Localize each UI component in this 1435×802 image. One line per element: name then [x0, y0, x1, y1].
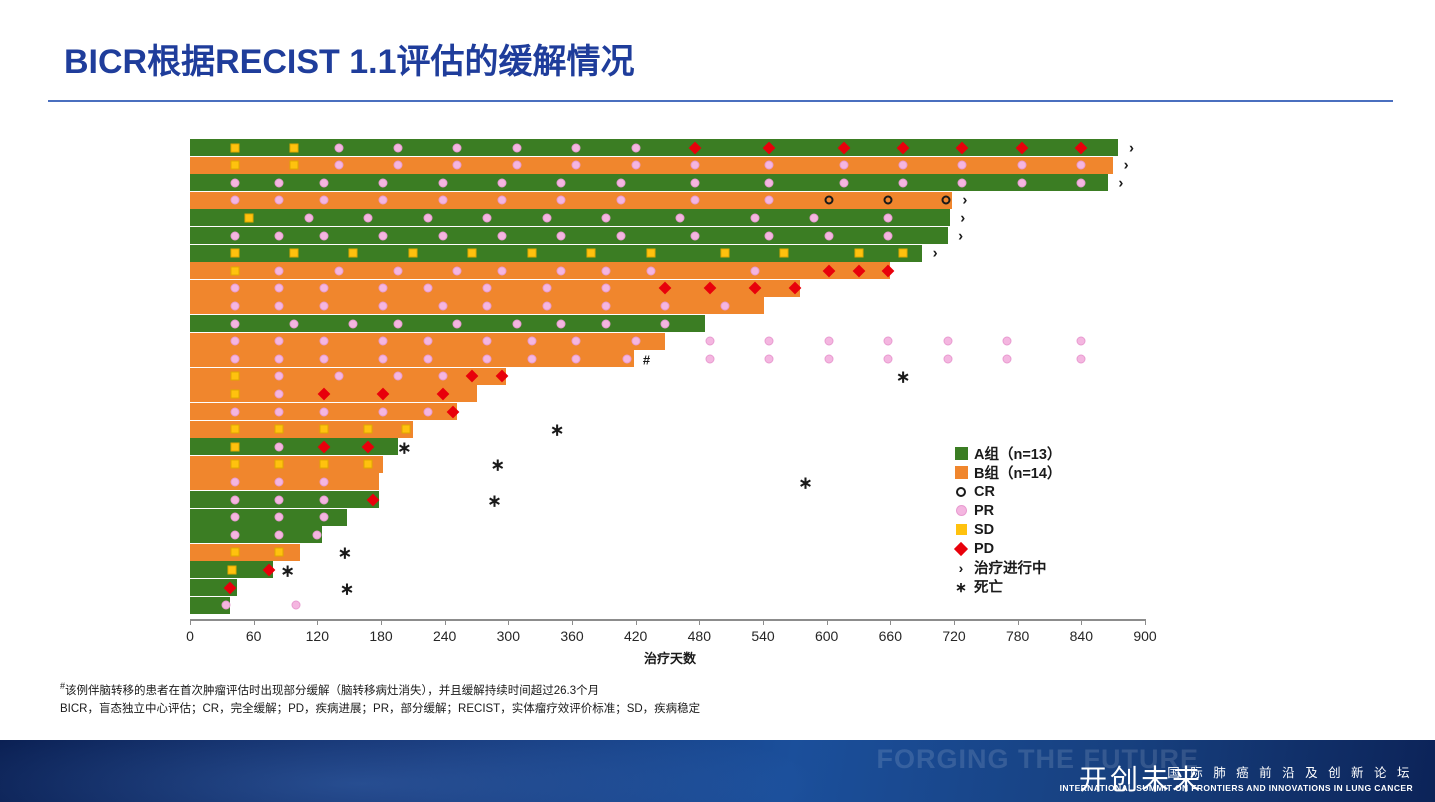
- x-axis-tick: [317, 619, 318, 625]
- pr-marker-icon: [393, 161, 402, 170]
- swimmer-bar-group-a[interactable]: [190, 227, 948, 244]
- pr-marker-icon: [601, 319, 610, 328]
- swimmer-bar-row[interactable]: [0, 333, 1435, 350]
- sd-marker-icon: [527, 249, 536, 258]
- death-marker-icon: ∗: [491, 457, 505, 474]
- legend-item[interactable]: A组（n=13）: [948, 444, 1061, 463]
- pr-marker-icon: [527, 354, 536, 363]
- legend-item-label: CR: [974, 484, 995, 500]
- swimmer-bar-row[interactable]: [0, 192, 1435, 209]
- sd-marker-icon: [289, 143, 298, 152]
- cr-marker-icon: [941, 196, 950, 205]
- pr-marker-icon: [230, 319, 239, 328]
- x-axis-tick: [445, 619, 446, 625]
- pr-marker-icon: [1077, 354, 1086, 363]
- swimmer-bar-group-a[interactable]: [190, 139, 1118, 156]
- pr-marker-icon: [230, 301, 239, 310]
- sd-marker-icon: [364, 425, 373, 434]
- pr-marker-icon: [765, 196, 774, 205]
- legend-item-label: SD: [974, 522, 994, 538]
- x-axis-tick: [1018, 619, 1019, 625]
- legend-item-label: A组（n=13）: [974, 443, 1061, 464]
- pr-marker-icon: [542, 213, 551, 222]
- pr-marker-icon: [483, 354, 492, 363]
- x-axis-tick-label: 720: [942, 628, 965, 644]
- sd-marker-icon: [899, 249, 908, 258]
- swimmer-bar-row[interactable]: [0, 227, 1435, 244]
- x-axis-tick: [699, 619, 700, 625]
- legend-item-label: 死亡: [974, 576, 1003, 597]
- footnote-abbrev: BICR，盲态独立中心评估；CR，完全缓解；PD，疾病进展；PR，部分缓解；RE…: [60, 701, 700, 719]
- orange-swatch-icon: [948, 463, 974, 482]
- ongoing-treatment-icon: ›: [1124, 158, 1129, 173]
- pr-marker-icon: [393, 266, 402, 275]
- pr-marker-icon: [275, 372, 284, 381]
- pr-marker-icon: [275, 407, 284, 416]
- death-marker-icon: ∗: [397, 439, 411, 456]
- x-axis-tick-label: 600: [815, 628, 838, 644]
- pr-marker-icon: [349, 319, 358, 328]
- pr-marker-icon: [765, 354, 774, 363]
- pr-marker-icon: [958, 161, 967, 170]
- pr-marker-icon: [379, 284, 388, 293]
- sd-marker-icon: [230, 425, 239, 434]
- swimmer-bar-group-b[interactable]: [190, 473, 379, 490]
- pr-marker-icon: [676, 213, 685, 222]
- pr-marker-icon: [453, 143, 462, 152]
- sd-marker-icon: [275, 548, 284, 557]
- legend-item[interactable]: PR: [948, 501, 1061, 520]
- pr-marker-icon: [646, 266, 655, 275]
- cr-marker-icon: [884, 196, 893, 205]
- x-axis-tick: [763, 619, 764, 625]
- pr-marker-icon: [379, 407, 388, 416]
- footnote-hash-text: 该例伴脑转移的患者在首次肿瘤评估时出现部分缓解（脑转移病灶消失），并且缓解持续时…: [65, 685, 599, 697]
- pr-marker-icon: [512, 161, 521, 170]
- sd-marker-icon: [780, 249, 789, 258]
- pr-marker-icon: [512, 319, 521, 328]
- pr-marker-icon: [572, 337, 581, 346]
- cr-marker-icon: [824, 196, 833, 205]
- death-star-icon: ∗: [948, 577, 974, 596]
- pr-marker-icon: [1017, 178, 1026, 187]
- sd-marker-icon: [230, 389, 239, 398]
- pr-marker-icon: [958, 178, 967, 187]
- pr-marker-icon: [319, 495, 328, 504]
- slide: BICR根据RECIST 1.1评估的缓解情况 ›››››››#∗∗∗∗∗∗∗∗…: [0, 0, 1435, 802]
- sd-marker-icon: [646, 249, 655, 258]
- bottom-banner: FORGING THE FUTURE 开创未来 国 际 肺 癌 前 沿 及 创 …: [0, 740, 1435, 802]
- x-axis-label: 治疗天数: [0, 648, 1340, 667]
- death-marker-icon: ∗: [798, 474, 812, 491]
- pr-marker-icon: [765, 178, 774, 187]
- legend-item[interactable]: CR: [948, 482, 1061, 501]
- green-swatch-icon: [948, 444, 974, 463]
- pr-marker-icon: [319, 284, 328, 293]
- sd-marker-icon: [230, 266, 239, 275]
- pr-marker-icon: [899, 178, 908, 187]
- pr-marker-icon: [884, 337, 893, 346]
- pr-marker-icon: [423, 407, 432, 416]
- x-axis-tick-label: 480: [688, 628, 711, 644]
- swimmer-bar-group-a[interactable]: [190, 526, 322, 543]
- swimmer-bar-group-b[interactable]: [190, 421, 413, 438]
- pr-marker-icon: [899, 161, 908, 170]
- pr-marker-icon: [230, 337, 239, 346]
- banner-subtitle-cn: 国 际 肺 癌 前 沿 及 创 新 论 坛: [1167, 762, 1413, 781]
- pr-marker-icon: [631, 143, 640, 152]
- pr-marker-icon: [512, 143, 521, 152]
- pr-marker-icon: [824, 354, 833, 363]
- swimmer-bar-row[interactable]: [0, 579, 1435, 596]
- pr-marker-icon: [1077, 161, 1086, 170]
- pr-marker-icon: [943, 354, 952, 363]
- pr-marker-icon: [616, 178, 625, 187]
- legend-item[interactable]: SD: [948, 520, 1061, 539]
- swimmer-bar-row[interactable]: [0, 368, 1435, 385]
- pr-marker-icon: [483, 301, 492, 310]
- pr-marker-icon: [379, 231, 388, 240]
- pr-marker-icon: [275, 196, 284, 205]
- death-marker-icon: ∗: [896, 369, 910, 386]
- pr-marker-icon: [1077, 178, 1086, 187]
- pr-marker-icon: [720, 301, 729, 310]
- pr-marker-icon: [1003, 337, 1012, 346]
- swimmer-bar-row[interactable]: [0, 491, 1435, 508]
- pr-marker-icon: [705, 354, 714, 363]
- sd-marker-icon: [364, 460, 373, 469]
- swimmer-bar-group-a[interactable]: [190, 315, 705, 332]
- pr-marker-icon: [542, 301, 551, 310]
- swimmer-bar-group-b[interactable]: [190, 192, 952, 209]
- footnote-hash-marker: #: [643, 353, 650, 366]
- swimmer-bar-row[interactable]: [0, 597, 1435, 614]
- pr-marker-icon: [379, 337, 388, 346]
- pr-marker-icon: [230, 178, 239, 187]
- death-marker-icon: ∗: [338, 545, 352, 562]
- pr-marker-icon: [230, 407, 239, 416]
- swimmer-bar-row[interactable]: [0, 385, 1435, 402]
- pr-marker-icon: [313, 530, 322, 539]
- legend-item[interactable]: ›治疗进行中: [948, 558, 1061, 577]
- pr-marker-icon: [691, 231, 700, 240]
- pr-marker-icon: [824, 231, 833, 240]
- ongoing-treatment-icon: ›: [960, 210, 965, 225]
- x-axis-tick-label: 120: [306, 628, 329, 644]
- pr-marker-icon: [275, 477, 284, 486]
- pr-marker-icon: [230, 196, 239, 205]
- pr-marker-icon: [230, 477, 239, 486]
- sd-marker-icon: [319, 460, 328, 469]
- sd-marker-icon: [587, 249, 596, 258]
- pr-marker-icon: [319, 301, 328, 310]
- sd-square-shape: [956, 524, 967, 535]
- x-axis-tick: [381, 619, 382, 625]
- pr-marker-icon: [275, 231, 284, 240]
- swimmer-bar-row[interactable]: [0, 561, 1435, 578]
- ongoing-treatment-icon: ›: [958, 228, 963, 243]
- sd-marker-icon: [275, 425, 284, 434]
- pr-marker-icon: [319, 337, 328, 346]
- x-axis-tick: [254, 619, 255, 625]
- pr-marker-icon: [705, 337, 714, 346]
- swimmer-bar-row[interactable]: [0, 262, 1435, 279]
- ongoing-treatment-icon: ›: [1129, 140, 1134, 155]
- pr-marker-icon: [750, 266, 759, 275]
- pr-marker-icon: [884, 354, 893, 363]
- swimmer-bar-row[interactable]: [0, 509, 1435, 526]
- x-axis-tick: [1081, 619, 1082, 625]
- x-axis-tick: [890, 619, 891, 625]
- swimmer-bar-row[interactable]: [0, 350, 1435, 367]
- pr-marker-icon: [943, 337, 952, 346]
- pr-marker-icon: [601, 213, 610, 222]
- pr-marker-icon: [275, 284, 284, 293]
- pr-marker-icon: [230, 354, 239, 363]
- legend-item-label: 治疗进行中: [974, 557, 1047, 578]
- pr-marker-icon: [334, 161, 343, 170]
- swimmer-bar-row[interactable]: [0, 438, 1435, 455]
- swimmer-bar-row[interactable]: [0, 544, 1435, 561]
- pr-marker-icon: [275, 442, 284, 451]
- legend-item[interactable]: PD: [948, 539, 1061, 558]
- pr-marker-icon: [230, 530, 239, 539]
- x-axis-tick-label: 540: [751, 628, 774, 644]
- death-marker-icon: ∗: [280, 562, 294, 579]
- pr-marker-icon: [379, 178, 388, 187]
- pr-marker-icon: [691, 178, 700, 187]
- pr-marker-icon: [304, 213, 313, 222]
- pr-marker-icon: [601, 284, 610, 293]
- sd-marker-icon: [720, 249, 729, 258]
- pd-diamond-icon: [948, 539, 974, 558]
- pr-marker-icon: [497, 196, 506, 205]
- x-axis-tick-label: 300: [497, 628, 520, 644]
- pr-marker-icon: [438, 231, 447, 240]
- swimmer-bar-group-b[interactable]: [190, 544, 300, 561]
- pr-marker-icon: [557, 196, 566, 205]
- pr-marker-icon: [765, 337, 774, 346]
- pr-marker-icon: [423, 337, 432, 346]
- swimmer-bar-row[interactable]: [0, 315, 1435, 332]
- ongoing-treatment-icon: ›: [933, 246, 938, 261]
- x-axis-tick: [190, 619, 191, 625]
- x-axis-tick-label: 360: [560, 628, 583, 644]
- orange-swatch-shape: [955, 466, 968, 479]
- death-star-shape: ∗: [955, 580, 967, 594]
- pr-marker-icon: [623, 354, 632, 363]
- pr-marker-icon: [275, 354, 284, 363]
- pd-diamond-shape: [954, 541, 968, 555]
- footnote-hash: #该例伴脑转移的患者在首次肿瘤评估时出现部分缓解（脑转移病灶消失），并且缓解持续…: [60, 680, 700, 701]
- pr-marker-icon: [275, 389, 284, 398]
- pr-marker-icon: [824, 337, 833, 346]
- swimmer-bar-row[interactable]: [0, 297, 1435, 314]
- pr-marker-icon: [631, 337, 640, 346]
- pr-marker-icon: [319, 477, 328, 486]
- pr-marker-icon: [319, 513, 328, 522]
- death-marker-icon: ∗: [550, 421, 564, 438]
- legend-item-label: PD: [974, 541, 994, 557]
- sd-marker-icon: [230, 460, 239, 469]
- x-axis-tick-label: 0: [186, 628, 194, 644]
- pr-marker-icon: [497, 231, 506, 240]
- x-axis-tick-label: 900: [1133, 628, 1156, 644]
- sd-marker-icon: [289, 161, 298, 170]
- x-axis-tick-label: 660: [879, 628, 902, 644]
- pr-marker-icon: [319, 354, 328, 363]
- pr-marker-icon: [765, 231, 774, 240]
- pr-marker-icon: [275, 495, 284, 504]
- ongoing-treatment-icon: ›: [962, 193, 967, 208]
- pr-marker-icon: [379, 301, 388, 310]
- pr-marker-icon: [542, 284, 551, 293]
- swimmer-bar-group-b[interactable]: [190, 456, 383, 473]
- pr-marker-icon: [334, 266, 343, 275]
- pr-marker-icon: [527, 337, 536, 346]
- pr-marker-icon: [438, 301, 447, 310]
- pr-dot-shape: [956, 505, 967, 516]
- pr-marker-icon: [453, 161, 462, 170]
- pr-marker-icon: [275, 530, 284, 539]
- pr-marker-icon: [222, 601, 231, 610]
- swimmer-bar-row[interactable]: [0, 421, 1435, 438]
- swimmer-bar-row[interactable]: [0, 280, 1435, 297]
- sd-marker-icon: [228, 565, 237, 574]
- sd-marker-icon: [408, 249, 417, 258]
- pr-marker-icon: [275, 266, 284, 275]
- pr-marker-icon: [393, 372, 402, 381]
- pr-marker-icon: [230, 495, 239, 504]
- x-axis-tick-label: 60: [246, 628, 262, 644]
- legend-item[interactable]: B组（n=14）: [948, 463, 1061, 482]
- pr-marker-icon: [319, 407, 328, 416]
- sd-marker-icon: [319, 425, 328, 434]
- pr-marker-icon: [661, 301, 670, 310]
- pr-marker-icon: [393, 143, 402, 152]
- death-marker-icon: ∗: [340, 580, 354, 597]
- pr-marker-icon: [453, 266, 462, 275]
- sd-marker-icon: [230, 143, 239, 152]
- pr-marker-icon: [601, 301, 610, 310]
- pr-marker-icon: [1077, 337, 1086, 346]
- pr-marker-icon: [557, 319, 566, 328]
- banner-subtitle-en: INTERNATIONAL SUMMIT ON FRONTIERS AND IN…: [1060, 783, 1413, 793]
- legend-item[interactable]: ∗死亡: [948, 577, 1061, 596]
- pr-marker-icon: [319, 178, 328, 187]
- swimmer-bar-group-a[interactable]: [190, 491, 379, 508]
- swimmer-bar-row[interactable]: [0, 456, 1435, 473]
- pr-marker-icon: [379, 196, 388, 205]
- x-axis-tick-label: 180: [369, 628, 392, 644]
- pr-dot-icon: [948, 501, 974, 520]
- pr-marker-icon: [334, 372, 343, 381]
- swimmer-bar-row[interactable]: [0, 403, 1435, 420]
- pr-marker-icon: [275, 337, 284, 346]
- sd-marker-icon: [402, 425, 411, 434]
- pr-marker-icon: [292, 601, 301, 610]
- footnotes: #该例伴脑转移的患者在首次肿瘤评估时出现部分缓解（脑转移病灶消失），并且缓解持续…: [60, 680, 700, 718]
- swimmer-bar-row[interactable]: [0, 139, 1435, 156]
- pr-marker-icon: [275, 513, 284, 522]
- sd-marker-icon: [230, 442, 239, 451]
- swimmer-bar-row[interactable]: [0, 174, 1435, 191]
- pr-marker-icon: [438, 196, 447, 205]
- sd-marker-icon: [854, 249, 863, 258]
- sd-marker-icon: [245, 213, 254, 222]
- pr-marker-icon: [557, 178, 566, 187]
- pr-marker-icon: [557, 266, 566, 275]
- pr-marker-icon: [765, 161, 774, 170]
- x-axis-tick-label: 240: [433, 628, 456, 644]
- pr-marker-icon: [289, 319, 298, 328]
- pr-marker-icon: [750, 213, 759, 222]
- swimmer-bar-row[interactable]: [0, 209, 1435, 226]
- pr-marker-icon: [884, 213, 893, 222]
- pr-marker-icon: [691, 196, 700, 205]
- swimmer-bar-row[interactable]: [0, 473, 1435, 490]
- green-swatch-shape: [955, 447, 968, 460]
- x-axis-line: [190, 619, 1145, 621]
- pr-marker-icon: [275, 301, 284, 310]
- swimmer-bar-row[interactable]: [0, 245, 1435, 262]
- sd-marker-icon: [230, 548, 239, 557]
- pr-marker-icon: [572, 161, 581, 170]
- swimmer-bar-group-a[interactable]: [190, 245, 922, 262]
- pr-marker-icon: [1003, 354, 1012, 363]
- pr-marker-icon: [497, 178, 506, 187]
- swimmer-bar-group-b[interactable]: [190, 262, 890, 279]
- swimmer-bar-group-b[interactable]: [190, 350, 634, 367]
- legend-item-label: PR: [974, 503, 994, 519]
- pr-marker-icon: [661, 319, 670, 328]
- pr-marker-icon: [483, 337, 492, 346]
- pr-marker-icon: [483, 284, 492, 293]
- sd-marker-icon: [349, 249, 358, 258]
- x-axis-tick: [827, 619, 828, 625]
- x-axis-tick: [508, 619, 509, 625]
- pr-marker-icon: [616, 196, 625, 205]
- pr-marker-icon: [616, 231, 625, 240]
- sd-square-icon: [948, 520, 974, 539]
- cr-circle-icon: [948, 482, 974, 501]
- pr-marker-icon: [572, 354, 581, 363]
- pr-marker-icon: [275, 178, 284, 187]
- x-axis-tick: [954, 619, 955, 625]
- pr-marker-icon: [423, 284, 432, 293]
- sd-marker-icon: [275, 460, 284, 469]
- pr-marker-icon: [483, 213, 492, 222]
- pr-marker-icon: [497, 266, 506, 275]
- pr-marker-icon: [230, 513, 239, 522]
- pr-marker-icon: [319, 231, 328, 240]
- pr-marker-icon: [557, 231, 566, 240]
- pr-marker-icon: [631, 161, 640, 170]
- swimmer-bar-row[interactable]: [0, 157, 1435, 174]
- x-axis-tick: [572, 619, 573, 625]
- pr-marker-icon: [230, 231, 239, 240]
- x-axis-tick-label: 420: [624, 628, 647, 644]
- swimmer-bar-row[interactable]: [0, 526, 1435, 543]
- pr-marker-icon: [691, 161, 700, 170]
- pr-marker-icon: [601, 266, 610, 275]
- x-axis-tick: [636, 619, 637, 625]
- swimmer-bar-group-b[interactable]: [190, 157, 1113, 174]
- pr-marker-icon: [423, 354, 432, 363]
- pr-marker-icon: [1017, 161, 1026, 170]
- pr-marker-icon: [572, 143, 581, 152]
- pr-marker-icon: [230, 284, 239, 293]
